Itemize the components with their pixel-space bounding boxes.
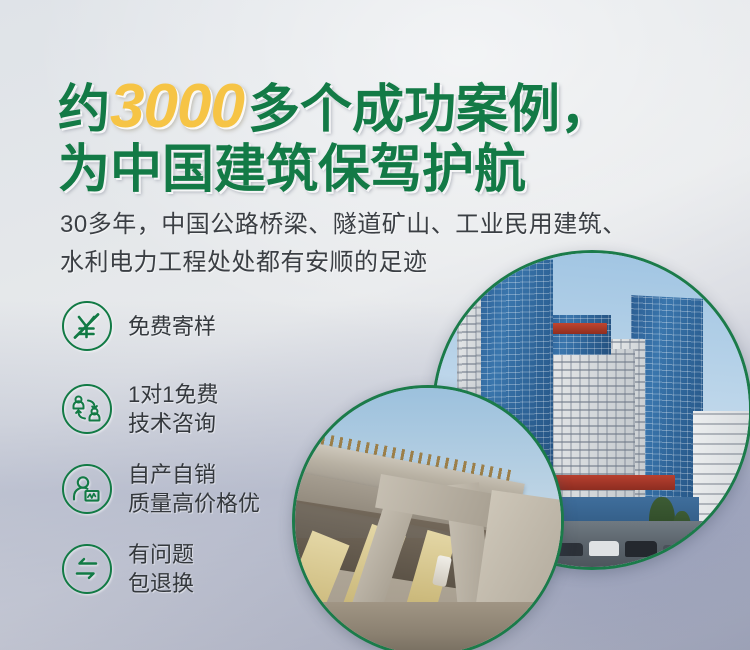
tower-left-roof-cap xyxy=(489,257,523,266)
feature-item-consult: 1对1免费 技术咨询 xyxy=(62,378,260,440)
feature-list: 免费寄样 1对1免费 技术咨询 xyxy=(62,300,260,600)
rooftop-sign-upper xyxy=(549,323,607,334)
tower-center-crown xyxy=(545,315,611,355)
self-produce-sell-icon xyxy=(62,464,112,514)
headline-number: 3000 xyxy=(110,72,248,141)
headline-line-2: 为中国建筑保驾护航 xyxy=(58,141,612,199)
headline-suffix: 多个成功案例， xyxy=(248,81,612,139)
car xyxy=(625,541,657,557)
bridge-photo xyxy=(292,385,564,650)
car xyxy=(663,545,685,557)
feature-item-free-sample: 免费寄样 xyxy=(62,300,260,352)
subtitle-line-1: 30多年，中国公路桥梁、隧道矿山、工业民用建筑、 xyxy=(60,206,627,244)
feature-item-return-exchange: 有问题 包退换 xyxy=(62,538,260,600)
bridge-photo-artwork xyxy=(295,388,561,650)
promo-banner: 约3000多个成功案例， 为中国建筑保驾护航 30多年，中国公路桥梁、隧道矿山、… xyxy=(0,0,750,650)
feature-line-2: 技术咨询 xyxy=(128,409,218,438)
one-on-one-consult-icon xyxy=(62,384,112,434)
feature-line-2: 质量高价格优 xyxy=(128,489,260,518)
no-fee-yen-icon xyxy=(62,301,112,351)
headline-line-1: 约3000多个成功案例， xyxy=(58,78,612,139)
return-exchange-icon xyxy=(62,544,112,594)
feature-label-consult: 1对1免费 技术咨询 xyxy=(128,380,218,438)
feature-label-self-produce: 自产自销 质量高价格优 xyxy=(128,460,260,518)
feature-line-1: 有问题 xyxy=(128,540,194,569)
car xyxy=(589,541,619,556)
feature-line-1: 免费寄样 xyxy=(128,314,216,339)
feature-line-1: 1对1免费 xyxy=(128,380,218,409)
entrance-sign-band xyxy=(545,475,675,490)
headline-prefix: 约 xyxy=(58,81,110,139)
headline-block: 约3000多个成功案例， 为中国建筑保驾护航 xyxy=(58,78,612,199)
feature-line-2: 包退换 xyxy=(128,569,194,598)
feature-line-1: 自产自销 xyxy=(128,460,260,489)
rubble-foreground xyxy=(295,602,561,650)
feature-label-return-exchange: 有问题 包退换 xyxy=(128,540,194,598)
feature-item-self-produce: 自产自销 质量高价格优 xyxy=(62,458,260,520)
feature-label-free-sample: 免费寄样 xyxy=(128,312,216,341)
